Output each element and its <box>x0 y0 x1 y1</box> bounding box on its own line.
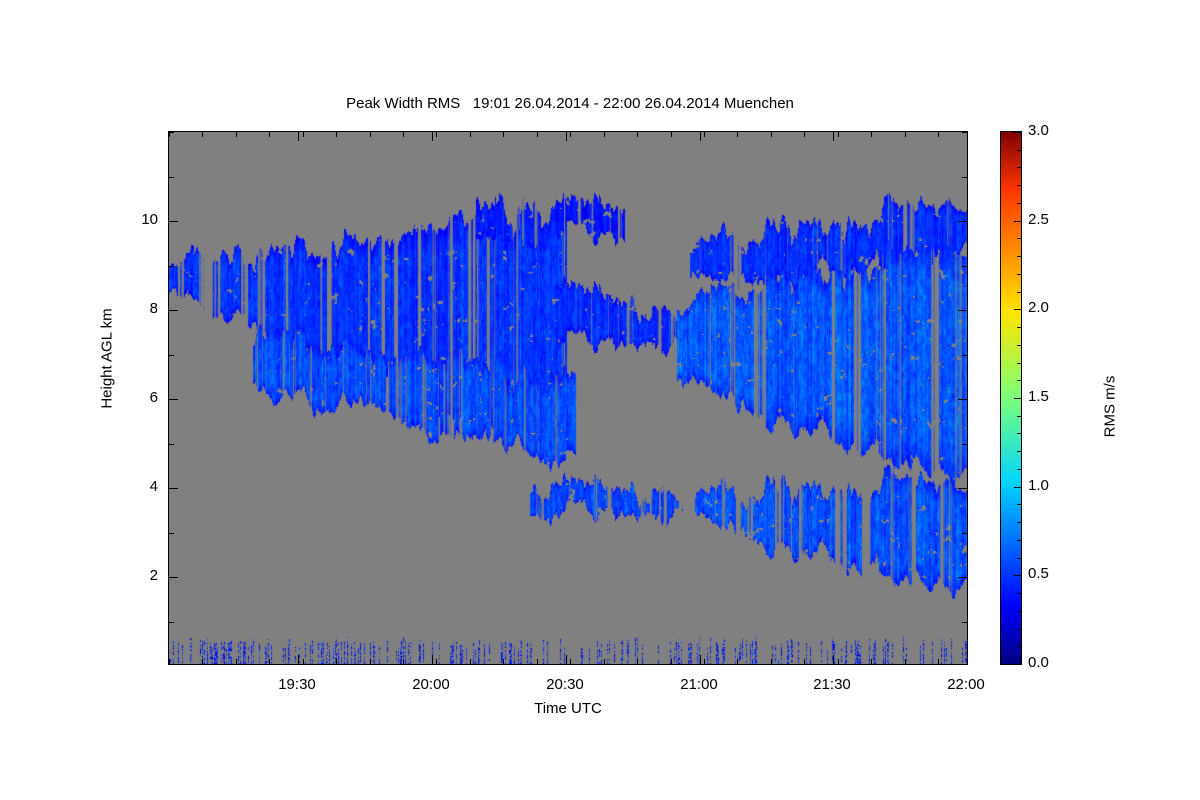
axis-tick <box>169 221 178 222</box>
axis-tick <box>570 132 571 137</box>
colorbar-tick <box>1017 611 1021 612</box>
colorbar-tick-major <box>1014 221 1021 222</box>
colorbar-tick-major <box>1014 575 1021 576</box>
colorbar-tick <box>1017 664 1021 665</box>
axis-tick <box>566 132 567 141</box>
y-tick-label: 4 <box>98 478 158 495</box>
axis-tick <box>370 659 371 664</box>
axis-tick <box>236 132 237 137</box>
colorbar-tick <box>1017 167 1021 168</box>
axis-tick <box>704 659 705 664</box>
axis-tick <box>958 310 967 311</box>
axis-tick <box>637 132 638 137</box>
axis-tick <box>604 132 605 137</box>
axis-tick <box>169 533 174 534</box>
axis-tick <box>938 132 939 137</box>
axis-tick <box>537 132 538 137</box>
axis-tick <box>298 132 299 141</box>
colorbar-tick-label: 3.0 <box>1028 122 1088 139</box>
axis-tick <box>303 132 304 137</box>
colorbar-tick <box>1017 629 1021 630</box>
page-title: Peak Width RMS 19:01 26.04.2014 - 22:00 … <box>0 95 1140 112</box>
y-tick-label: 2 <box>98 567 158 584</box>
axis-tick <box>704 132 705 137</box>
colorbar-tick-major <box>1014 664 1021 665</box>
colorbar-tick-label: 0.0 <box>1028 654 1088 671</box>
colorbar-tick <box>1017 203 1021 204</box>
axis-tick <box>169 310 178 311</box>
colorbar-tick <box>1017 363 1021 364</box>
axis-tick <box>671 659 672 664</box>
axis-tick <box>833 655 834 664</box>
axis-tick <box>169 622 174 623</box>
colorbar-tick-label: 2.0 <box>1028 299 1088 316</box>
x-tick-label: 21:30 <box>792 676 872 693</box>
axis-tick <box>336 132 337 137</box>
axis-tick <box>967 132 968 141</box>
axis-tick <box>436 132 437 137</box>
colorbar-title: RMS m/s <box>1102 307 1119 507</box>
axis-tick <box>838 132 839 137</box>
y-tick-label: 10 <box>98 211 158 228</box>
colorbar-tick <box>1017 327 1021 328</box>
axis-tick <box>938 659 939 664</box>
axis-tick <box>737 659 738 664</box>
x-tick-label: 20:00 <box>391 676 471 693</box>
colorbar-tick <box>1017 380 1021 381</box>
colorbar-tick-label: 0.5 <box>1028 565 1088 582</box>
colorbar-tick <box>1017 345 1021 346</box>
axis-tick <box>771 659 772 664</box>
axis-tick <box>336 659 337 664</box>
axis-tick <box>269 132 270 137</box>
axis-tick <box>432 655 433 664</box>
axis-tick <box>737 132 738 137</box>
figure-root: Peak Width RMS 19:01 26.04.2014 - 22:00 … <box>0 0 1200 800</box>
colorbar-tick <box>1017 433 1021 434</box>
axis-tick <box>269 659 270 664</box>
colorbar-tick <box>1017 451 1021 452</box>
axis-tick <box>958 577 967 578</box>
axis-tick <box>566 655 567 664</box>
axis-tick <box>169 266 174 267</box>
axis-tick <box>771 132 772 137</box>
colorbar-tick-label: 2.5 <box>1028 211 1088 228</box>
axis-tick <box>503 132 504 137</box>
axis-tick <box>470 659 471 664</box>
colorbar-tick-major <box>1014 132 1021 133</box>
colorbar-tick <box>1017 593 1021 594</box>
axis-tick <box>503 659 504 664</box>
axis-tick <box>962 266 967 267</box>
colorbar-tick <box>1017 274 1021 275</box>
axis-tick <box>962 444 967 445</box>
colorbar-tick <box>1017 646 1021 647</box>
axis-tick <box>905 659 906 664</box>
colorbar-tick-major <box>1014 309 1021 310</box>
axis-tick <box>962 132 967 133</box>
colorbar-tick <box>1017 416 1021 417</box>
axis-tick <box>470 132 471 137</box>
axis-tick <box>833 132 834 141</box>
axis-tick <box>169 488 178 489</box>
colorbar-tick-major <box>1014 487 1021 488</box>
axis-tick <box>436 659 437 664</box>
axis-tick <box>169 177 174 178</box>
colorbar-tick <box>1017 256 1021 257</box>
x-axis-title: Time UTC <box>168 700 968 717</box>
axis-tick <box>202 132 203 137</box>
axis-tick <box>671 132 672 137</box>
colorbar-tick <box>1017 558 1021 559</box>
x-tick-label: 20:30 <box>525 676 605 693</box>
axis-tick <box>169 577 178 578</box>
axis-tick <box>871 659 872 664</box>
colorbar-tick <box>1017 504 1021 505</box>
axis-tick <box>370 132 371 137</box>
colorbar-tick <box>1017 522 1021 523</box>
x-tick-label: 22:00 <box>926 676 1006 693</box>
axis-tick <box>169 444 174 445</box>
axis-tick <box>700 655 701 664</box>
axis-tick <box>303 659 304 664</box>
axis-tick <box>958 399 967 400</box>
colorbar-tick <box>1017 185 1021 186</box>
heatmap-plot-area[interactable] <box>168 131 968 665</box>
axis-tick <box>202 659 203 664</box>
axis-tick <box>962 177 967 178</box>
axis-tick <box>403 132 404 137</box>
axis-tick <box>967 655 968 664</box>
colorbar-tick <box>1017 469 1021 470</box>
colorbar-tick-major <box>1014 398 1021 399</box>
axis-tick <box>432 132 433 141</box>
axis-tick <box>804 132 805 137</box>
heatmap-data-canvas <box>169 132 967 664</box>
colorbar-tick <box>1017 150 1021 151</box>
axis-tick <box>169 399 178 400</box>
colorbar-tick <box>1017 292 1021 293</box>
axis-tick <box>403 659 404 664</box>
axis-tick <box>298 655 299 664</box>
axis-tick <box>169 132 174 133</box>
axis-tick <box>604 659 605 664</box>
colorbar-tick <box>1017 238 1021 239</box>
axis-tick <box>637 659 638 664</box>
colorbar-tick-label: 1.0 <box>1028 477 1088 494</box>
x-tick-label: 21:00 <box>659 676 739 693</box>
axis-tick <box>570 659 571 664</box>
axis-tick <box>962 622 967 623</box>
colorbar[interactable] <box>1000 131 1022 665</box>
axis-tick <box>169 659 170 664</box>
colorbar-tick <box>1017 540 1021 541</box>
y-axis-title: Height AGL km <box>99 249 116 469</box>
axis-tick <box>962 355 967 356</box>
colorbar-tick-label: 1.5 <box>1028 388 1088 405</box>
x-tick-label: 19:30 <box>257 676 337 693</box>
axis-tick <box>804 659 805 664</box>
axis-tick <box>537 659 538 664</box>
axis-tick <box>962 533 967 534</box>
axis-tick <box>169 355 174 356</box>
axis-tick <box>905 132 906 137</box>
axis-tick <box>236 659 237 664</box>
axis-tick <box>838 659 839 664</box>
axis-tick <box>958 221 967 222</box>
axis-tick <box>871 132 872 137</box>
axis-tick <box>958 488 967 489</box>
axis-tick <box>700 132 701 141</box>
